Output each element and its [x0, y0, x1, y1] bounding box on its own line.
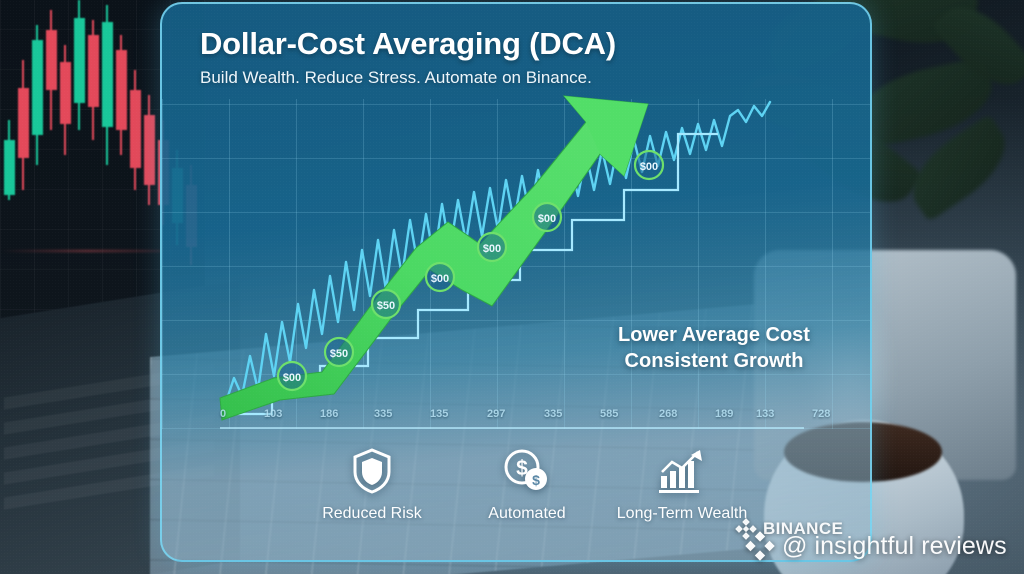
x-tick-5: 297: [487, 408, 505, 420]
coin-marker: $00: [478, 233, 506, 261]
callout-line-2: Consistent Growth: [599, 348, 829, 374]
channel-watermark: @ insightful reviews: [745, 531, 1007, 561]
coin-marker: $00: [533, 203, 561, 231]
x-tick-7: 585: [600, 408, 618, 420]
x-tick-1: 103: [264, 408, 282, 420]
svg-text:$00: $00: [640, 161, 658, 173]
shield-icon: [292, 446, 452, 496]
svg-text:$50: $50: [377, 300, 395, 312]
coin-marker: $50: [372, 290, 400, 318]
bar-chart-growth-icon: [602, 446, 762, 496]
coin-marker: $50: [325, 338, 353, 366]
x-tick-0: 0: [220, 408, 226, 420]
dollar-coins-icon: $ $: [447, 446, 607, 496]
x-tick-6: 335: [544, 408, 562, 420]
callout-text: Lower Average Cost Consistent Growth: [599, 322, 829, 374]
svg-text:$00: $00: [283, 372, 301, 384]
callout-line-1: Lower Average Cost: [599, 322, 829, 348]
diamond-logo-icon: [745, 531, 775, 561]
feature-automated: $ $ Automated: [447, 446, 607, 523]
feature-row: Reduced Risk $ $ Automated: [292, 446, 762, 541]
x-tick-3: 335: [374, 408, 392, 420]
feature-long-term-wealth: Long-Term Wealth: [602, 446, 762, 523]
svg-text:$50: $50: [330, 348, 348, 360]
coin-marker: $00: [426, 263, 454, 291]
coin-marker: $00: [278, 362, 306, 390]
svg-text:$00: $00: [538, 213, 556, 225]
feature-label: Reduced Risk: [292, 505, 452, 523]
svg-text:$00: $00: [431, 273, 449, 285]
feature-label: Automated: [447, 505, 607, 523]
x-tick-9: 189: [715, 408, 733, 420]
x-tick-10: 133: [756, 408, 774, 420]
coin-marker: $00: [635, 151, 663, 179]
svg-text:$: $: [532, 472, 540, 488]
x-tick-2: 186: [320, 408, 338, 420]
feature-reduced-risk: Reduced Risk: [292, 446, 452, 523]
x-tick-8: 268: [659, 408, 677, 420]
x-axis-labels: 0 103 186 335 135 297 335 585 268 189 13…: [162, 408, 870, 428]
channel-handle: @ insightful reviews: [782, 532, 1007, 561]
dca-info-card: Dollar-Cost Averaging (DCA) Build Wealth…: [160, 2, 872, 562]
x-tick-11: 728: [812, 408, 830, 420]
screenshot-root: Dollar-Cost Averaging (DCA) Build Wealth…: [0, 0, 1024, 574]
svg-text:$00: $00: [483, 243, 501, 255]
x-tick-4: 135: [430, 408, 448, 420]
